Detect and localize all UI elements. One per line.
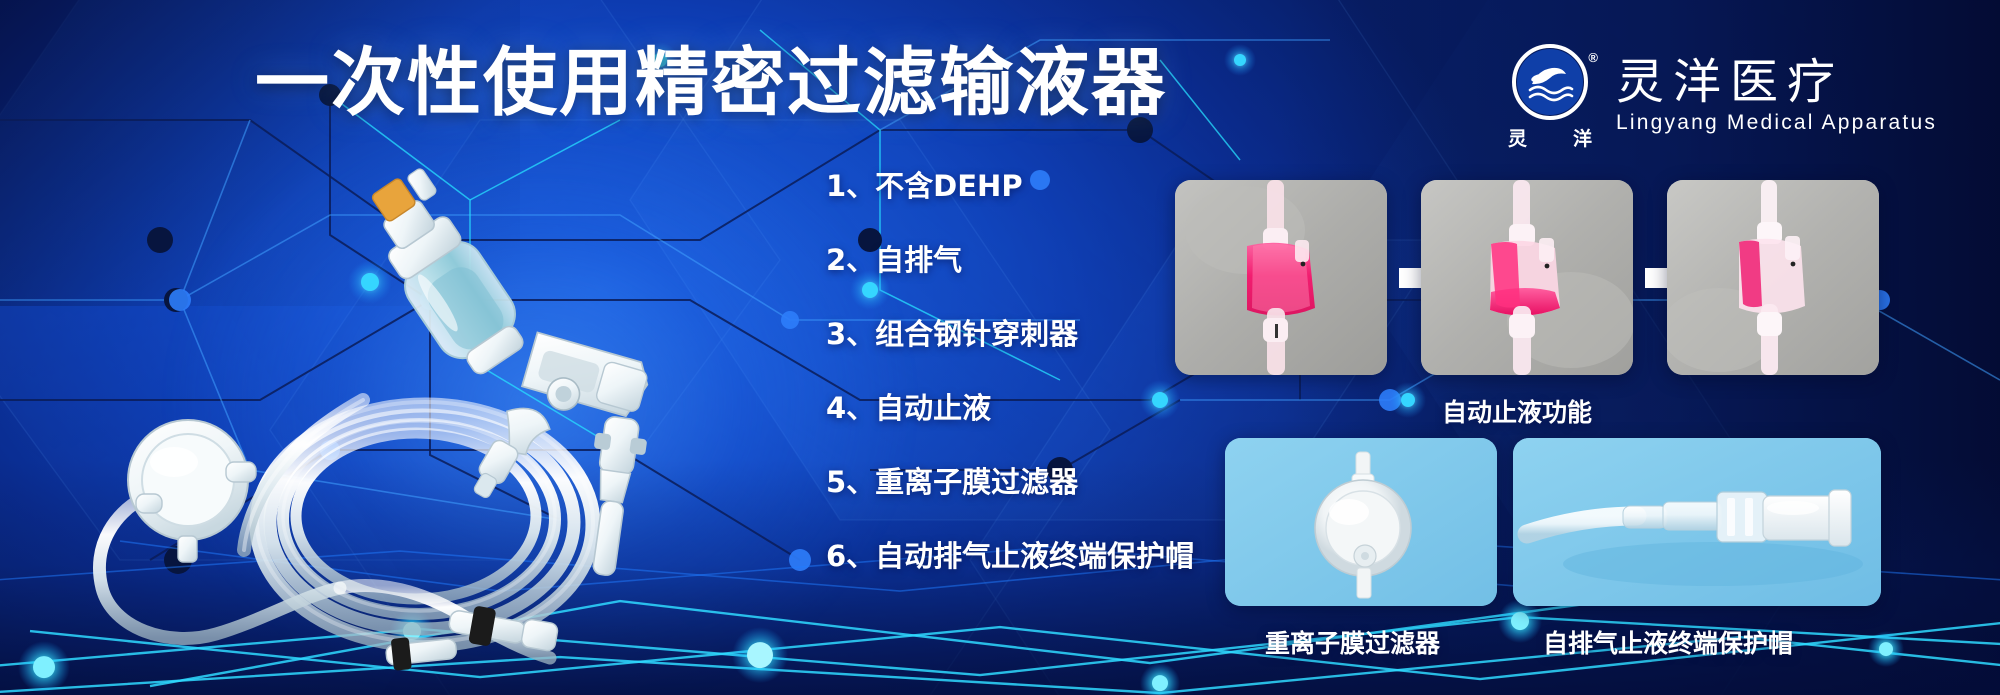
brand-text: 灵洋医疗 Lingyang Medical Apparatus xyxy=(1616,57,1937,135)
chamber-full-photo xyxy=(1175,180,1387,375)
registered-trademark-icon: ® xyxy=(1588,50,1598,65)
product-card-cap xyxy=(1513,438,1881,606)
feature-item-5: 5、重离子膜过滤器 xyxy=(826,468,1194,497)
brand-name-en: Lingyang Medical Apparatus xyxy=(1616,111,1937,135)
wave-emblem-graphic xyxy=(1516,48,1584,116)
page-title: 一次性使用精密过滤输液器 xyxy=(255,46,1167,120)
feature-item-4: 4、自动止液 xyxy=(826,394,1194,423)
feature-list: 1、不含DEHP 2、自排气 3、组合钢针穿刺器 4、自动止液 5、重离子膜过滤… xyxy=(826,172,1194,571)
promotional-banner: 一次性使用精密过滤输液器 ® 灵 洋 灵洋医疗 Lingyang Medical… xyxy=(0,0,2000,695)
demo-frame-3 xyxy=(1667,180,1879,375)
brand-name-cn: 灵洋医疗 xyxy=(1616,57,1937,107)
brand-logo: ® 灵 洋 灵洋医疗 Lingyang Medical Apparatus xyxy=(1508,44,1937,148)
caption-auto-stop: 自动止液功能 xyxy=(1442,393,1592,429)
terminal-protective-cap-photo xyxy=(1513,438,1881,606)
caption-filter: 重离子膜过滤器 xyxy=(1265,624,1440,660)
chamber-empty-photo xyxy=(1667,180,1879,375)
emblem-char-left: 灵 xyxy=(1508,124,1527,151)
emblem-subtext: 灵 洋 xyxy=(1508,124,1592,151)
caption-cap: 自排气止液终端保护帽 xyxy=(1543,624,1793,660)
feature-item-3: 3、组合钢针穿刺器 xyxy=(826,320,1194,349)
product-card-filter xyxy=(1225,438,1497,606)
demo-frame-1 xyxy=(1175,180,1387,375)
drip-chamber-part xyxy=(349,164,536,385)
wave-emblem-icon xyxy=(1512,44,1588,120)
main-product-photo xyxy=(40,150,780,680)
demo-frame-2 xyxy=(1421,180,1633,375)
infusion-set-illustration xyxy=(40,150,780,680)
feature-item-6: 6、自动排气止液终端保护帽 xyxy=(826,542,1194,571)
feature-item-1: 1、不含DEHP xyxy=(826,172,1194,201)
feature-item-2: 2、自排气 xyxy=(826,246,1194,275)
chamber-half-photo xyxy=(1421,180,1633,375)
logo-emblem: ® 灵 洋 xyxy=(1508,44,1594,148)
round-filter-part xyxy=(128,420,256,562)
emblem-char-right: 洋 xyxy=(1573,124,1592,151)
round-membrane-filter-photo xyxy=(1225,438,1497,606)
